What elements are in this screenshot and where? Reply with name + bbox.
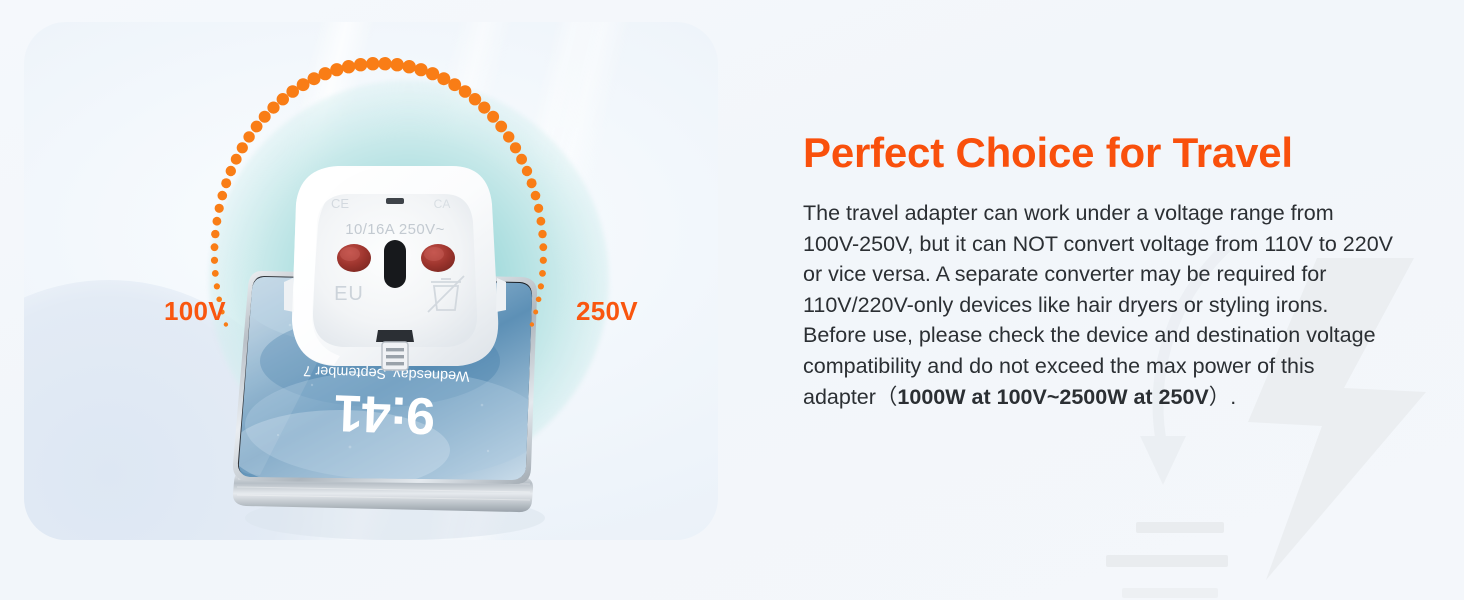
voltage-min-label: 100V (164, 296, 226, 327)
paragraph-line: compatibility and do not exceed the max … (803, 351, 1443, 382)
product-image-card: 9:41 Wednesday, September 7 (24, 22, 718, 540)
page-title: Perfect Choice for Travel (803, 128, 1439, 178)
voltage-range-arc (174, 72, 644, 332)
text-panel: Perfect Choice for Travel The travel ada… (803, 128, 1439, 412)
arc-dots (211, 57, 548, 327)
ground-symbol-icon (1106, 522, 1228, 598)
promo-banner: 9:41 Wednesday, September 7 (0, 0, 1464, 600)
final-line-prefix: adapter（ (803, 385, 897, 409)
lockscreen-clock: 9:41 (334, 383, 436, 444)
paragraph-line: 100V-250V, but it can NOT convert voltag… (803, 229, 1443, 260)
final-line-suffix: ）. (1209, 385, 1236, 409)
paragraph-line: or vice versa. A separate converter may … (803, 259, 1443, 290)
paragraph-line: Before use, please check the device and … (803, 320, 1443, 351)
power-rating-bold: 1000W at 100V~2500W at 250V (897, 385, 1208, 409)
paragraph-line: The travel adapter can work under a volt… (803, 198, 1443, 229)
voltage-max-label: 250V (576, 296, 638, 327)
ground-pin (376, 330, 414, 370)
paragraph-line: 110V/220V-only devices like hair dryers … (803, 290, 1443, 321)
paragraph-final-line: adapter（1000W at 100V~2500W at 250V）. (803, 382, 1443, 413)
description-paragraph: The travel adapter can work under a volt… (803, 198, 1443, 412)
